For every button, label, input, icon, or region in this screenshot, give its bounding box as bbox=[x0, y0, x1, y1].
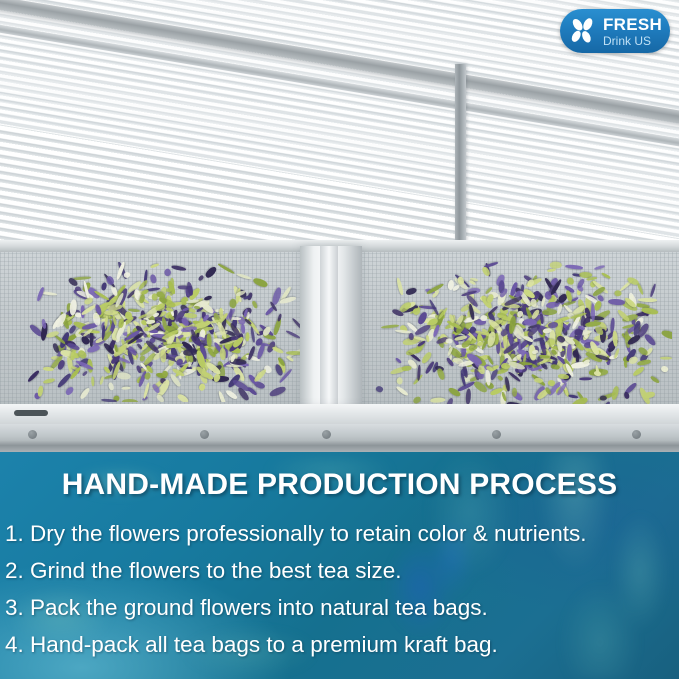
dried-flower-petal bbox=[649, 283, 657, 297]
dried-flower-petal bbox=[565, 263, 583, 270]
dried-flower-petal bbox=[594, 265, 605, 270]
process-steps-list: 1. Dry the flowers professionally to ret… bbox=[5, 515, 679, 663]
process-step: 1. Dry the flowers professionally to ret… bbox=[5, 515, 679, 552]
dried-flower-petal bbox=[285, 330, 300, 340]
dried-flower-petal bbox=[405, 287, 417, 296]
dried-flower-petal bbox=[402, 366, 412, 371]
dried-flower-petal bbox=[219, 307, 223, 318]
dried-flower-petal bbox=[381, 324, 399, 329]
infographic-root: FRESH Drink US HAND-MADE PRODUCTION PROC… bbox=[0, 0, 679, 679]
dried-flower-petal bbox=[108, 382, 114, 391]
dried-flower-petal bbox=[567, 277, 575, 285]
dried-flower-petal bbox=[437, 367, 446, 380]
dried-flower-petal bbox=[546, 268, 555, 272]
tray-rivet bbox=[632, 430, 641, 439]
dried-flower-petal bbox=[203, 295, 212, 301]
page-title: HAND-MADE PRODUCTION PROCESS bbox=[0, 468, 679, 502]
dried-flower-petal bbox=[395, 328, 411, 333]
dried-flower-petal bbox=[277, 314, 282, 322]
dried-flower-petal bbox=[568, 394, 579, 399]
dried-flower-petal bbox=[395, 385, 409, 397]
dried-flower-petal bbox=[150, 274, 157, 284]
dried-flower-petal bbox=[636, 359, 650, 365]
dried-flower-petal bbox=[116, 372, 131, 381]
dried-flower-petal bbox=[101, 398, 117, 402]
dried-flower-petal bbox=[271, 345, 283, 354]
dried-flower-petal bbox=[26, 370, 40, 384]
dried-flower-petal bbox=[601, 271, 611, 279]
dried-flower-petal bbox=[122, 387, 131, 390]
dried-flower-petal bbox=[155, 393, 164, 402]
tray-centre-rail bbox=[300, 246, 362, 418]
dried-flower-petal bbox=[106, 275, 115, 285]
dried-flower-petal bbox=[79, 387, 91, 400]
dried-flower-petal bbox=[198, 383, 207, 392]
process-step: 4. Hand-pack all tea bags to a premium k… bbox=[5, 626, 679, 663]
tray-rivet bbox=[492, 430, 501, 439]
flower-petals-icon bbox=[567, 16, 598, 47]
support-post bbox=[455, 64, 466, 264]
dried-flower-petal bbox=[610, 385, 620, 400]
dried-flower-petal bbox=[542, 309, 557, 315]
dried-flower-petal bbox=[579, 377, 592, 380]
dried-flower-petal bbox=[125, 311, 132, 319]
dried-flower-petal bbox=[251, 300, 257, 308]
dried-flower-petal bbox=[375, 385, 384, 393]
dried-flower-petal bbox=[81, 370, 88, 376]
dried-flower-petal bbox=[149, 262, 159, 268]
process-panel: HAND-MADE PRODUCTION PROCESS 1. Dry the … bbox=[0, 452, 679, 679]
tray-rivet bbox=[322, 430, 331, 439]
dried-flower-petal bbox=[225, 388, 238, 400]
photo-bottom-edge bbox=[0, 440, 679, 452]
tray-rivet bbox=[200, 430, 209, 439]
dried-flower-petal bbox=[624, 392, 630, 400]
dried-flower-petal bbox=[268, 385, 286, 397]
dried-flower-petal bbox=[396, 377, 404, 386]
dried-flower-petal bbox=[36, 287, 46, 303]
dried-flower-petal bbox=[236, 272, 252, 280]
dried-flower-petal bbox=[660, 357, 672, 360]
dried-flower-petal bbox=[204, 265, 218, 278]
dried-flower-petal bbox=[632, 366, 645, 377]
dried-flower-petal bbox=[638, 298, 657, 303]
dried-flower-petal bbox=[219, 348, 226, 360]
dried-flower-petal bbox=[64, 386, 75, 396]
dried-flower-petal bbox=[171, 264, 187, 272]
dried-flower-petal bbox=[37, 386, 44, 397]
dried-flower-petal bbox=[660, 365, 669, 374]
dried-flower-petal bbox=[217, 262, 235, 275]
process-step: 2. Grind the flowers to the best tea siz… bbox=[5, 552, 679, 589]
dried-flower-petal bbox=[87, 345, 101, 354]
brand-name-primary: FRESH bbox=[603, 16, 662, 33]
dried-flower-petal bbox=[91, 377, 94, 387]
dried-flower-petal bbox=[197, 274, 205, 281]
flower-pile-right bbox=[366, 258, 672, 408]
dried-flower-petal bbox=[465, 388, 472, 405]
flower-pile-left bbox=[10, 262, 300, 402]
dried-flower-petal bbox=[649, 375, 659, 384]
dried-flower-petal bbox=[160, 349, 166, 362]
dried-flower-petal bbox=[593, 370, 601, 377]
dried-flower-petal bbox=[430, 398, 445, 403]
brand-logo-badge[interactable]: FRESH Drink US bbox=[560, 9, 670, 53]
dried-flower-petal bbox=[445, 338, 452, 343]
dried-flower-petal bbox=[395, 357, 402, 364]
process-step: 3. Pack the ground flowers into natural … bbox=[5, 589, 679, 626]
dried-flower-petal bbox=[643, 333, 657, 348]
brand-name-secondary: Drink US bbox=[603, 35, 662, 47]
dried-flower-petal bbox=[207, 333, 212, 347]
dried-flower-petal bbox=[496, 374, 503, 381]
greenhouse-photo bbox=[0, 0, 679, 452]
dried-flower-petal bbox=[292, 318, 300, 332]
dried-flower-petal bbox=[253, 368, 268, 383]
dried-flower-petal bbox=[162, 267, 172, 277]
dried-flower-petal bbox=[42, 377, 54, 384]
dried-flower-petal bbox=[176, 393, 189, 402]
dried-flower-petal bbox=[253, 276, 269, 288]
dried-flower-petal bbox=[122, 399, 139, 402]
dried-flower-petal bbox=[99, 376, 105, 386]
tray-handle-slot bbox=[14, 410, 48, 416]
dried-flower-petal bbox=[660, 328, 672, 341]
dried-flower-petal bbox=[395, 277, 403, 295]
dried-flower-petal bbox=[549, 261, 561, 269]
tray-rivet bbox=[28, 430, 37, 439]
